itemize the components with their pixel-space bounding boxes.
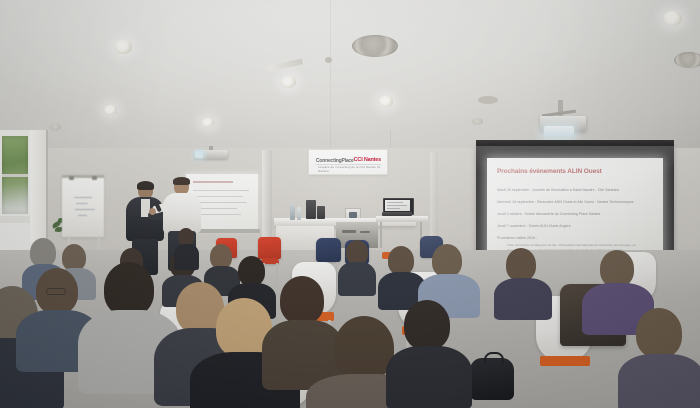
presenter-hair (173, 177, 190, 185)
ceiling-projector-right (536, 100, 592, 140)
slide-sub-bullet: Visite d'entreprise en Mayenne sur site … (507, 243, 637, 247)
downlight (663, 11, 682, 26)
laptop-bag (470, 358, 514, 400)
conference-room-photo: ConnectingPlace CCI Nantes l'espace de c… (0, 0, 700, 420)
window-sill (0, 216, 30, 223)
chair-red[interactable] (258, 237, 281, 259)
flipchart-clip (69, 176, 74, 180)
slide-bullet: Jeudi 7 novembre : Soirée ALIN Ouest Ang… (497, 224, 571, 228)
panel-display (349, 212, 357, 218)
bottom-letterbox (0, 408, 700, 420)
laptop-keyboard[interactable] (382, 212, 412, 216)
flipchart-marks (76, 203, 88, 204)
eyeglasses (46, 288, 66, 295)
flipchart-marks (78, 215, 87, 216)
ceiling-sensor (325, 57, 332, 63)
flipchart-marks (75, 209, 95, 210)
downlight-off (50, 123, 61, 131)
window-mullion (2, 174, 28, 177)
stool-leg (276, 263, 278, 289)
av-equipment-box (306, 200, 316, 219)
ceiling-air-vent (352, 35, 398, 57)
av-equipment-box (317, 206, 325, 219)
slide-title: Prochains évènements ALIN Ouest (497, 168, 602, 175)
right-projection-screen: Prochains évènements ALIN Ouest Mardi 26… (487, 158, 663, 258)
bag-handle (484, 352, 504, 364)
banner-divider (315, 164, 381, 165)
presenter-hair (137, 181, 154, 190)
downlight (379, 96, 393, 107)
downlight (281, 76, 296, 88)
desk-leg (380, 222, 382, 248)
presenter-hand (149, 208, 156, 215)
ceiling-shading (0, 0, 700, 160)
banner-logo-right: CCI Nantes (354, 157, 381, 163)
banner-tagline: l'espace de co-working de la CCI Nantes … (318, 165, 387, 173)
water-bottle (297, 207, 301, 220)
ceiling-projector-left (192, 146, 232, 159)
window (0, 130, 48, 250)
water-bottle (290, 204, 295, 220)
downlight (202, 118, 214, 127)
slide-bullet: Jeudi 3 octobre : Soirée découverte du C… (497, 212, 600, 216)
connecting-place-banner: ConnectingPlace CCI Nantes l'espace de c… (308, 149, 388, 175)
chair-seat-orange (540, 356, 590, 366)
laptop-screen (385, 200, 410, 211)
downlight (115, 40, 132, 54)
ceiling-seam (330, 0, 331, 150)
flipchart (62, 175, 104, 237)
projector-lens (195, 152, 203, 158)
ceiling-speaker (478, 96, 498, 104)
downlight (104, 105, 117, 115)
chair-blue[interactable] (316, 238, 341, 262)
ceiling-air-vent (674, 52, 700, 68)
photo-scene: ConnectingPlace CCI Nantes l'espace de c… (0, 0, 700, 408)
downlight-off (472, 118, 483, 125)
slide-bullet: Prochaines visites 2019 : (497, 236, 537, 240)
slide-bullet: Mercredi 18 septembre : Rencontre ADN Ou… (497, 200, 634, 204)
slide-bullet: Mardi 26 septembre : Journée de l'innova… (497, 188, 619, 192)
projector-lens (544, 126, 574, 137)
flipchart-clip (92, 176, 97, 180)
window-blind (30, 130, 46, 242)
presenter-shirt (163, 193, 201, 233)
flipchart-marks (74, 197, 92, 198)
